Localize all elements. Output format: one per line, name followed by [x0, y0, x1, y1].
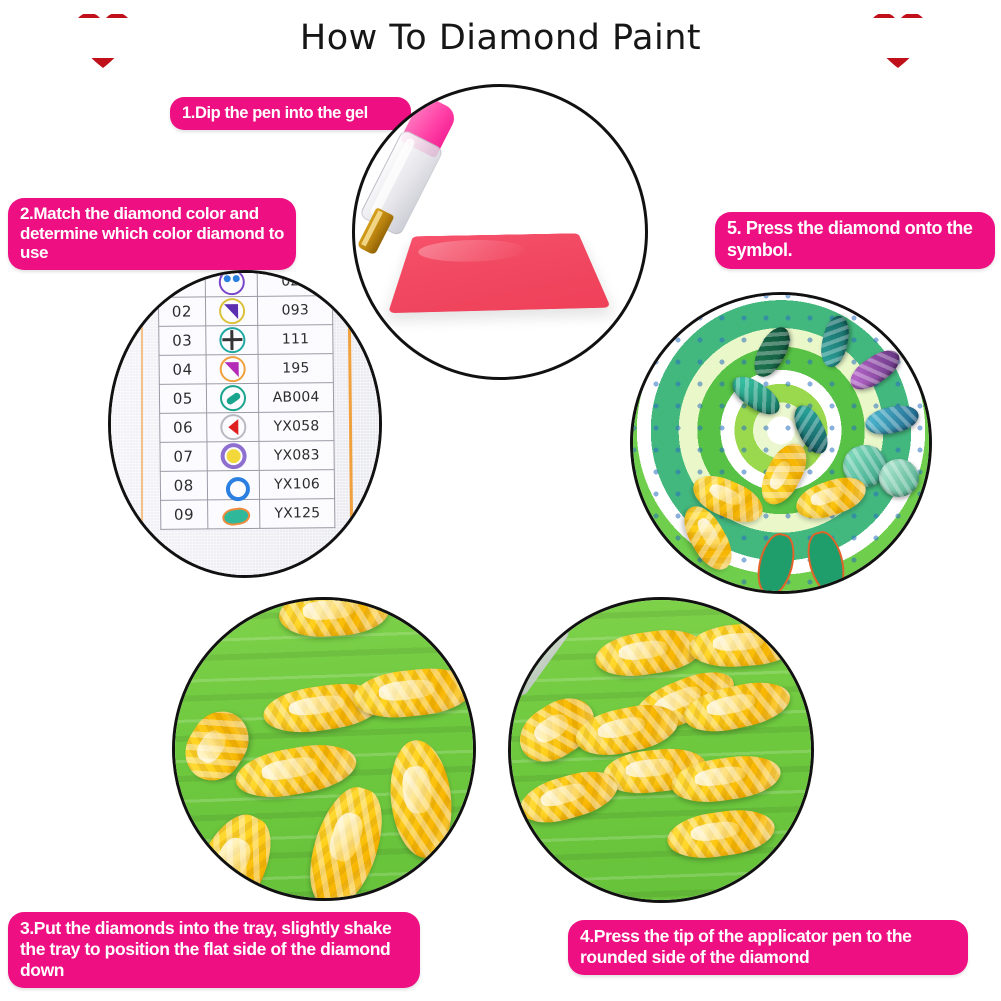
chart-code: 111	[258, 325, 333, 355]
step-4-label: 4.Press the tip of the applicator pen to…	[568, 920, 968, 975]
chart-symbol-slash-oval	[206, 383, 259, 413]
chart-code: AB004	[259, 383, 334, 413]
chart-symbol-filled-dot	[207, 441, 260, 471]
table-row: 03 111	[159, 325, 333, 356]
triangle-icon	[219, 356, 245, 382]
symbol-dot	[226, 449, 240, 463]
chart-no: 04	[159, 355, 206, 384]
chart-symbol-marquise	[207, 499, 260, 529]
chart-code: 020	[257, 270, 332, 296]
step-3-label: 3.Put the diamonds into the tray, slight…	[8, 912, 420, 988]
yellow-diamond	[385, 737, 457, 861]
symbol-ring	[225, 477, 249, 501]
table-row: 020	[158, 270, 332, 297]
chart-no: 06	[160, 413, 207, 442]
yellow-diamond	[688, 620, 801, 670]
chart-no: 09	[161, 500, 208, 529]
chart-code: YX125	[260, 499, 335, 529]
marquise-icon	[221, 501, 247, 527]
chart-no: 08	[160, 471, 207, 500]
symbol-triangle	[224, 362, 238, 377]
chart-symbol-triangle	[206, 354, 259, 384]
photo-diamonds-in-tray	[172, 597, 476, 901]
table-row: 06 YX058	[160, 412, 334, 443]
photo-placing-diamond-on-canvas	[630, 292, 932, 594]
symbol-plus-vertical	[230, 330, 233, 350]
chart-symbol-triangle	[205, 296, 258, 326]
arrow-left-icon	[220, 414, 246, 440]
chart-no	[158, 270, 205, 297]
triangle-icon	[218, 298, 244, 324]
table-row: 04 195	[159, 354, 333, 385]
canvas-gem	[879, 459, 919, 497]
table-row: 07 YX083	[160, 441, 334, 472]
symbol-arrow	[228, 419, 238, 435]
double-dot-circle-icon	[218, 270, 244, 295]
symbol-dot	[232, 275, 239, 282]
symbol-ring	[218, 270, 244, 295]
open-ring-icon	[220, 472, 246, 498]
photo-pen-dipping-into-gel	[352, 84, 648, 380]
photo-pen-picking-diamond	[508, 597, 814, 903]
chart-symbol-arrow-left	[206, 412, 259, 442]
plus-icon	[219, 327, 245, 353]
chart-code: YX106	[260, 470, 335, 500]
symbol-triangle	[224, 304, 238, 319]
symbol-dot	[223, 275, 230, 282]
photo-color-chart: 020 02 093 03	[108, 270, 382, 578]
filled-dot-icon	[220, 443, 246, 469]
step-5-label: 5. Press the diamond onto the symbol.	[715, 212, 995, 269]
color-chart-table: 020 02 093 03	[158, 270, 336, 530]
table-row: 08 YX106	[160, 470, 334, 501]
symbol-marquise	[221, 506, 251, 527]
chart-symbol-double-dot-circle	[205, 270, 258, 297]
page-title: How To Diamond Paint	[0, 18, 1001, 58]
chart-code: 195	[258, 354, 333, 384]
chart-code: YX058	[259, 412, 334, 442]
table-row: 09 YX125	[161, 499, 335, 530]
chart-margin-line	[141, 273, 143, 575]
chart-no: 07	[160, 442, 207, 471]
table-row: 05 AB004	[159, 383, 333, 414]
chart-symbol-open-ring	[207, 470, 260, 500]
step-2-label: 2.Match the diamond color and determine …	[8, 198, 296, 270]
gel-square	[388, 233, 611, 313]
chart-no: 02	[158, 297, 205, 326]
infographic-page: How To Diamond Paint 1.Dip the pen into …	[0, 0, 1001, 1001]
chart-no: 03	[159, 326, 206, 355]
chart-no: 05	[159, 384, 206, 413]
table-row: 02 093	[158, 296, 332, 327]
chart-code: YX083	[259, 441, 334, 471]
chart-code: 093	[258, 296, 333, 326]
chart-symbol-plus	[205, 325, 258, 355]
slash-oval-icon	[219, 385, 245, 411]
